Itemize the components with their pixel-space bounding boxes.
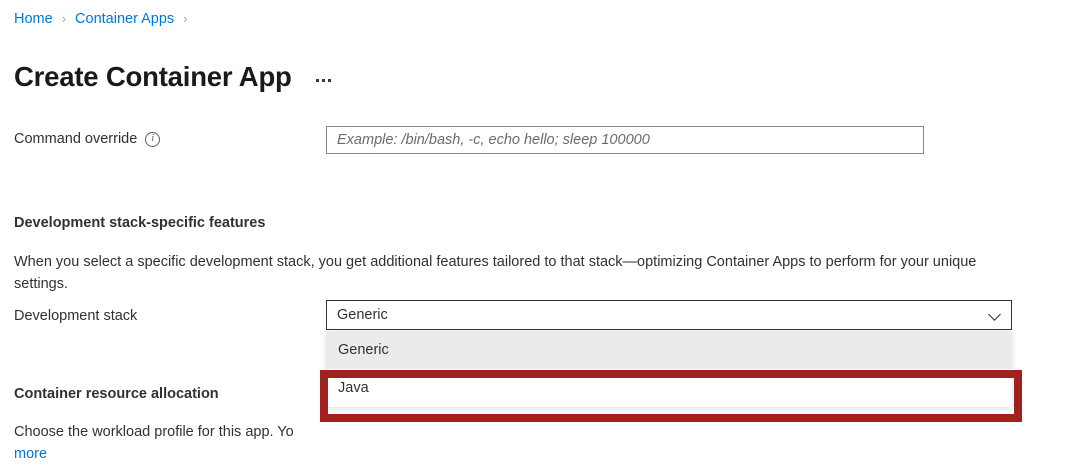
development-stack-field-label-text: Development stack — [14, 306, 137, 326]
page-header: Create Container App — [14, 40, 333, 115]
learn-more-link[interactable]: more — [14, 446, 47, 462]
dropdown-option-java[interactable]: Java — [326, 369, 1012, 407]
breadcrumb-item-home[interactable]: Home — [14, 9, 53, 29]
dot — [322, 79, 325, 82]
dropdown-option-label: Java — [338, 380, 369, 396]
chevron-down-icon — [989, 309, 1001, 321]
development-stack-dropdown[interactable]: Generic — [326, 300, 1012, 330]
breadcrumb-separator-icon: › — [183, 9, 187, 29]
page-title: Create Container App — [14, 58, 292, 96]
breadcrumb-separator-icon: › — [62, 9, 66, 29]
info-icon[interactable]: i — [145, 132, 160, 147]
dropdown-option-generic[interactable]: Generic — [326, 331, 1012, 369]
dropdown-option-label: Generic — [338, 342, 389, 358]
development-stack-field-label: Development stack — [14, 306, 137, 326]
development-stack-heading: Development stack-specific features — [14, 213, 265, 233]
command-override-label: Command override i — [14, 129, 160, 149]
dot — [316, 79, 319, 82]
breadcrumb-item-container-apps[interactable]: Container Apps — [75, 9, 174, 29]
more-options-icon[interactable] — [314, 75, 333, 86]
development-stack-description: When you select a specific development s… — [14, 251, 1014, 295]
resource-description-text: Choose the workload profile for this app… — [14, 424, 294, 440]
container-resource-allocation-heading: Container resource allocation — [14, 384, 219, 404]
dot — [328, 79, 331, 82]
command-override-label-text: Command override — [14, 129, 137, 149]
development-stack-option-list: Generic Java — [326, 331, 1012, 407]
development-stack-selected-value: Generic — [337, 307, 989, 323]
container-resource-allocation-description: Choose the workload profile for this app… — [14, 421, 1014, 465]
command-override-input[interactable] — [326, 126, 924, 154]
breadcrumb: Home › Container Apps › — [14, 9, 197, 29]
